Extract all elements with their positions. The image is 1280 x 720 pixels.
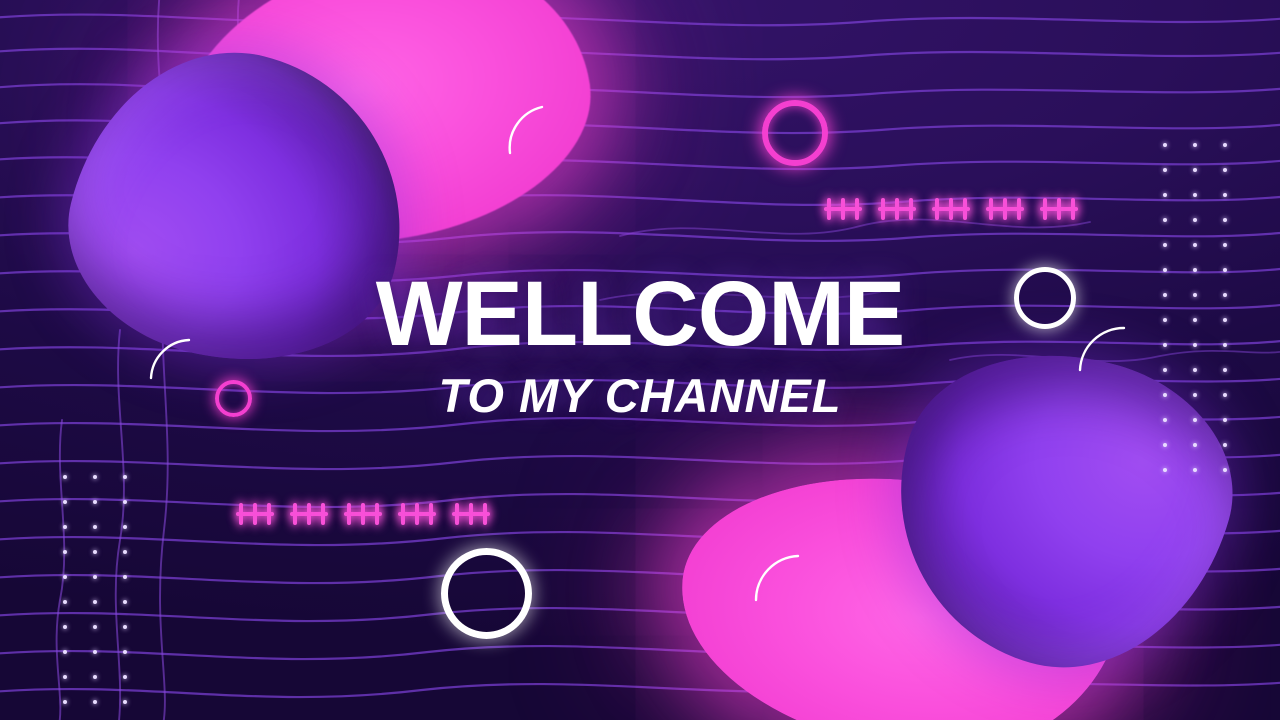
grid-dot xyxy=(63,575,67,579)
grid-dot xyxy=(1223,218,1227,222)
neon-ring-white-bottom xyxy=(441,548,532,639)
grid-dot xyxy=(123,550,127,554)
page-subtitle: TO MY CHANNEL xyxy=(0,372,1280,419)
neon-ring-pink-top xyxy=(762,100,828,166)
tally-mark xyxy=(344,503,382,525)
page-title: WELLCOME xyxy=(0,268,1280,360)
dot-grid-left xyxy=(63,475,127,720)
tally-mark xyxy=(824,198,862,220)
grid-dot xyxy=(1193,443,1197,447)
grid-dot xyxy=(63,675,67,679)
tally-mark xyxy=(986,198,1024,220)
grid-dot xyxy=(93,475,97,479)
grid-dot xyxy=(123,525,127,529)
tally-marks-bottom xyxy=(236,503,490,525)
grid-dot xyxy=(93,700,97,704)
arc-accent-icon xyxy=(742,548,812,618)
grid-dot xyxy=(63,625,67,629)
grid-dot xyxy=(123,650,127,654)
grid-dot xyxy=(93,650,97,654)
tally-mark xyxy=(398,503,436,525)
grid-dot xyxy=(1223,468,1227,472)
grid-dot xyxy=(1223,168,1227,172)
grid-dot xyxy=(1193,243,1197,247)
grid-dot xyxy=(1163,143,1167,147)
grid-dot xyxy=(1193,468,1197,472)
grid-dot xyxy=(1163,218,1167,222)
grid-dot xyxy=(63,650,67,654)
grid-dot xyxy=(93,550,97,554)
grid-dot xyxy=(1193,168,1197,172)
tally-mark xyxy=(932,198,970,220)
tally-mark xyxy=(878,198,916,220)
grid-dot xyxy=(1163,243,1167,247)
grid-dot xyxy=(123,700,127,704)
grid-dot xyxy=(93,500,97,504)
grid-dot xyxy=(1223,143,1227,147)
grid-dot xyxy=(1193,218,1197,222)
tally-mark xyxy=(1040,198,1078,220)
headline-block: WELLCOME TO MY CHANNEL xyxy=(0,268,1280,419)
grid-dot xyxy=(123,500,127,504)
grid-dot xyxy=(93,675,97,679)
grid-dot xyxy=(1163,468,1167,472)
grid-dot xyxy=(1163,443,1167,447)
grid-dot xyxy=(93,525,97,529)
grid-dot xyxy=(63,550,67,554)
grid-dot xyxy=(93,600,97,604)
grid-dot xyxy=(93,625,97,629)
tally-mark xyxy=(290,503,328,525)
grid-dot xyxy=(123,575,127,579)
grid-dot xyxy=(1223,443,1227,447)
grid-dot xyxy=(123,625,127,629)
grid-dot xyxy=(93,575,97,579)
grid-dot xyxy=(123,600,127,604)
grid-dot xyxy=(63,700,67,704)
arc-accent-icon xyxy=(500,95,570,165)
grid-dot xyxy=(1163,168,1167,172)
grid-dot xyxy=(63,500,67,504)
grid-dot xyxy=(63,525,67,529)
grid-dot xyxy=(1223,243,1227,247)
tally-marks-top xyxy=(824,198,1078,220)
grid-dot xyxy=(1223,193,1227,197)
grid-dot xyxy=(123,475,127,479)
tally-mark xyxy=(452,503,490,525)
tally-mark xyxy=(236,503,274,525)
banner-canvas: WELLCOME TO MY CHANNEL xyxy=(0,0,1280,720)
grid-dot xyxy=(63,600,67,604)
grid-dot xyxy=(123,675,127,679)
grid-dot xyxy=(1193,143,1197,147)
grid-dot xyxy=(1163,193,1167,197)
grid-dot xyxy=(1193,193,1197,197)
grid-dot xyxy=(63,475,67,479)
